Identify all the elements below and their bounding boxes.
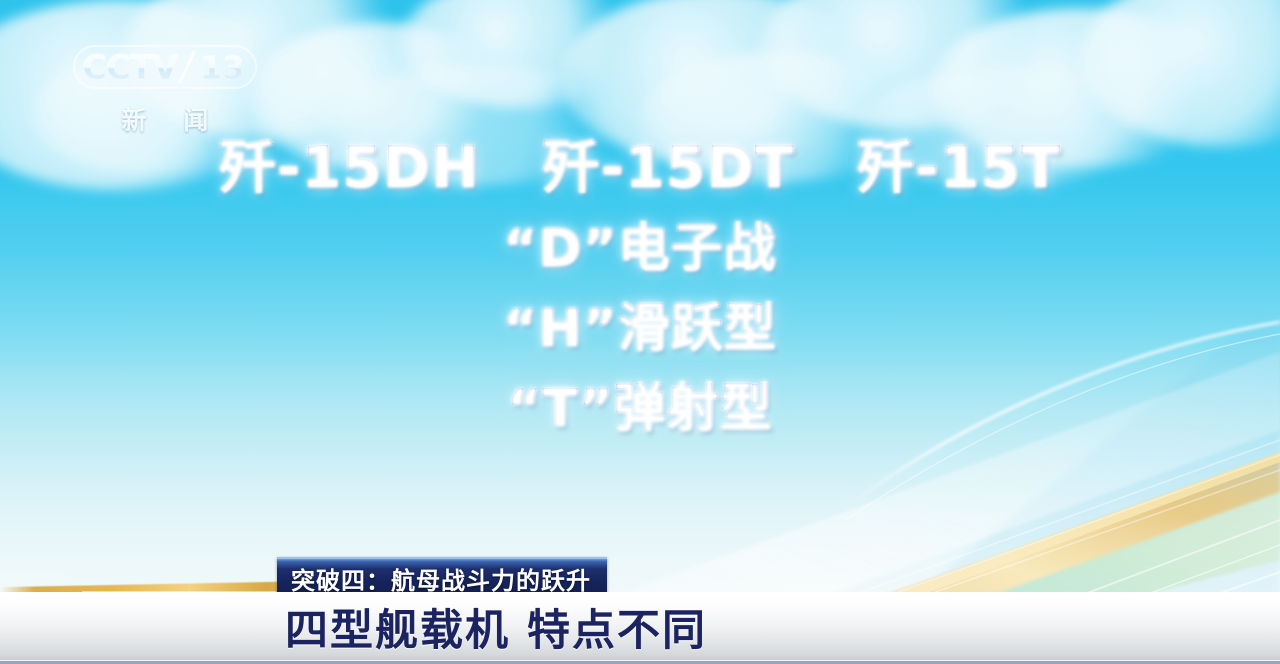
kicker-text: 突破四：航母战斗力的跃升 bbox=[291, 561, 591, 596]
cctv-13-logo-icon: CCTV 13 bbox=[72, 42, 258, 92]
headline-text: 四型舰载机 特点不同 bbox=[285, 595, 707, 657]
broadcast-frame: CCTV 13 新 闻 歼-15DH 歼-15DT 歼-15T “D”电子战 “… bbox=[0, 0, 1280, 664]
kicker-banner: 突破四：航母战斗力的跃升 bbox=[277, 557, 607, 597]
svg-text:13: 13 bbox=[200, 49, 245, 87]
channel-logo: CCTV 13 新 闻 bbox=[72, 42, 272, 142]
aircraft-models-line: 歼-15DH 歼-15DT 歼-15T bbox=[0, 140, 1280, 197]
lower-third: 突破四：航母战斗力的跃升 四型舰载机 特点不同 bbox=[0, 554, 1280, 664]
channel-logo-subtitle: 新 闻 bbox=[72, 101, 258, 137]
variant-line-h: “H”滑跃型 bbox=[0, 303, 1280, 355]
variant-line-d: “D”电子战 bbox=[0, 223, 1280, 275]
svg-text:CCTV: CCTV bbox=[82, 48, 179, 88]
variant-line-t: “T”弹射型 bbox=[0, 383, 1280, 435]
main-text-block: 歼-15DH 歼-15DT 歼-15T “D”电子战 “H”滑跃型 “T”弹射型 bbox=[0, 140, 1280, 463]
headline-bar: 四型舰载机 特点不同 bbox=[0, 592, 1280, 664]
